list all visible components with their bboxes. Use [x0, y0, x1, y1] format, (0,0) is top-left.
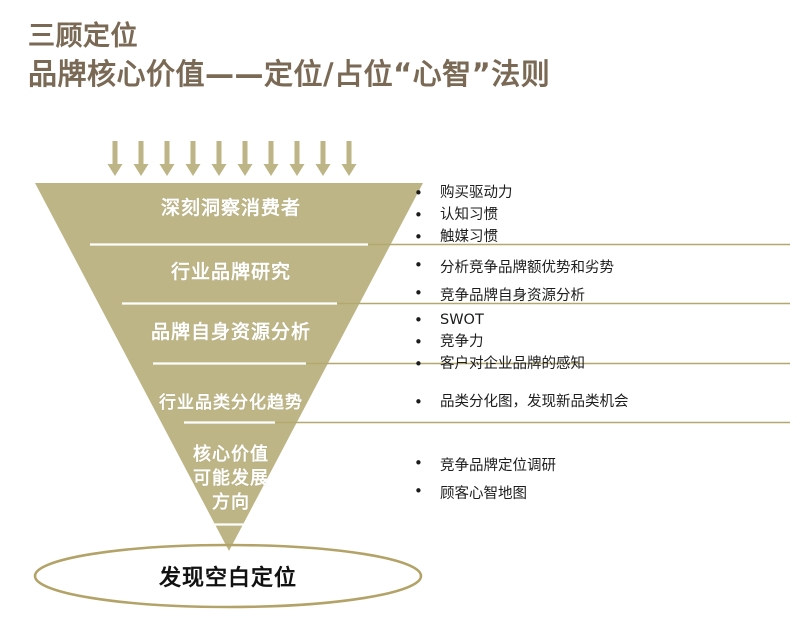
funnel-stage-label-5: 核心价值 可能发展 方向	[155, 443, 307, 515]
bullet-item: •分析竞争品牌额优势和劣势	[414, 254, 786, 282]
bullet-item-label: 顾客心智地图	[440, 480, 786, 508]
bullet-item-label: 品类分化图，发现新品类机会	[440, 391, 786, 413]
bullet-group-2: •分析竞争品牌额优势和劣势•竞争品牌自身资源分析	[414, 254, 786, 310]
bullet-item-label: 客户对企业品牌的感知	[440, 353, 786, 375]
bullet-item: •品类分化图，发现新品类机会	[414, 391, 786, 413]
funnel-stage-label-4: 行业品类分化趋势	[130, 392, 332, 415]
inflow-arrow-icon	[160, 141, 175, 176]
inflow-arrow-icon	[212, 141, 227, 176]
inflow-arrow-icon	[290, 141, 305, 176]
bullet-marker-icon: •	[414, 452, 440, 474]
bullet-item: •竞争力	[414, 331, 786, 353]
bullet-item: •顾客心智地图	[414, 480, 786, 508]
bullet-item-label: 竞争品牌定位调研	[440, 452, 786, 480]
bullet-item-label: 竞争力	[440, 331, 786, 353]
inflow-arrow-icon	[264, 141, 279, 176]
bullet-marker-icon: •	[414, 391, 440, 413]
bullet-item: •SWOT	[414, 309, 786, 331]
bullet-marker-icon: •	[414, 353, 440, 375]
funnel-diagram: 深刻洞察消费者 行业品牌研究 品牌自身资源分析 行业品类分化趋势 核心价值 可能…	[0, 0, 800, 638]
bullet-item: •客户对企业品牌的感知	[414, 353, 786, 375]
bullet-item: •竞争品牌自身资源分析	[414, 282, 786, 310]
bullet-marker-icon: •	[414, 309, 440, 331]
inflow-arrow-icon	[108, 141, 123, 176]
bullet-group-3: •SWOT•竞争力•客户对企业品牌的感知	[414, 309, 786, 375]
bullet-marker-icon: •	[414, 331, 440, 353]
bullet-item-label: 购买驱动力	[440, 182, 786, 204]
funnel-stage-label-3: 品牌自身资源分析	[127, 321, 335, 344]
bullet-item: •竞争品牌定位调研	[414, 452, 786, 480]
funnel-stage-label-1: 深刻洞察消费者	[120, 197, 342, 220]
bullet-item-label: 分析竞争品牌额优势和劣势	[440, 254, 786, 282]
inflow-arrow-icon	[316, 141, 331, 176]
inflow-arrows-group	[108, 141, 357, 176]
bullet-item-label: 认知习惯	[440, 204, 786, 226]
bullet-marker-icon: •	[414, 282, 440, 304]
bullet-item-label: SWOT	[440, 309, 786, 331]
bullet-item-label: 竞争品牌自身资源分析	[440, 282, 786, 310]
bullet-item: •触媒习惯	[414, 226, 786, 248]
bullet-group-4: •品类分化图，发现新品类机会	[414, 391, 786, 413]
bullet-marker-icon: •	[414, 226, 440, 248]
inflow-arrow-icon	[342, 141, 357, 176]
bullet-marker-icon: •	[414, 204, 440, 226]
bullet-marker-icon: •	[414, 480, 440, 502]
funnel-stage-label-2: 行业品牌研究	[130, 261, 332, 284]
bullet-marker-icon: •	[414, 182, 440, 204]
bullet-item-label: 触媒习惯	[440, 226, 786, 248]
outcome-label: 发现空白定位	[80, 560, 376, 592]
inflow-arrow-icon	[134, 141, 149, 176]
bullet-group-1: •购买驱动力•认知习惯•触媒习惯	[414, 182, 786, 248]
bullet-marker-icon: •	[414, 254, 440, 276]
bullet-group-5: •竞争品牌定位调研•顾客心智地图	[414, 452, 786, 508]
inflow-arrow-icon	[186, 141, 201, 176]
bullet-item: •购买驱动力	[414, 182, 786, 204]
inflow-arrow-icon	[238, 141, 253, 176]
bullet-item: •认知习惯	[414, 204, 786, 226]
